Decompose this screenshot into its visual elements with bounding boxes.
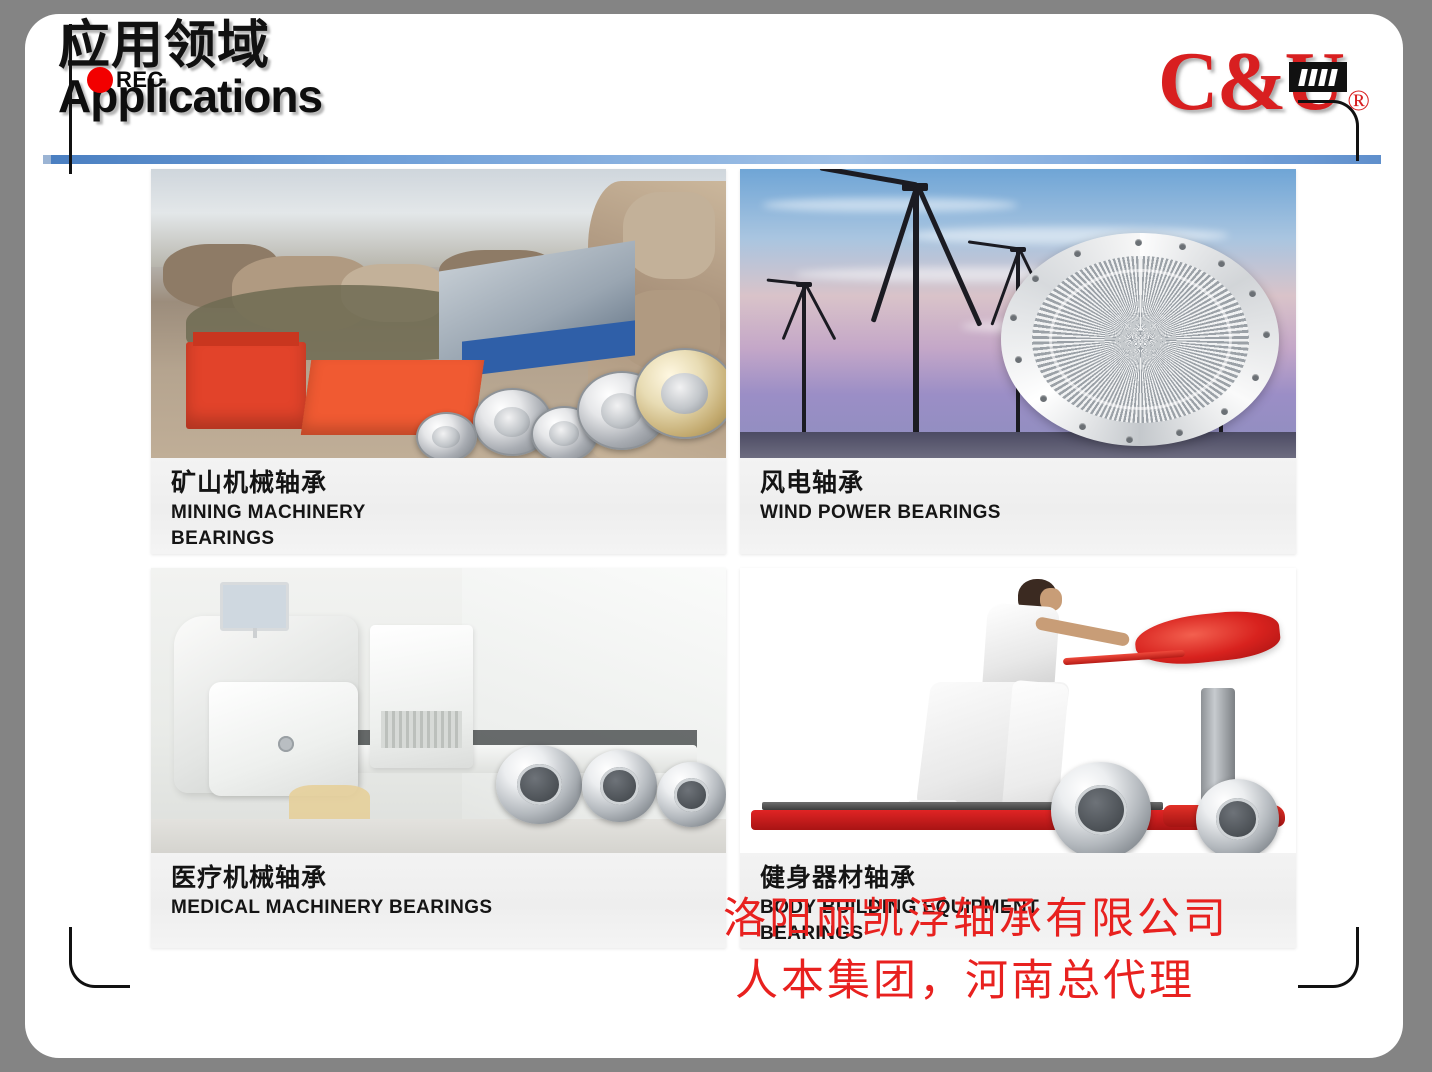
- wind-card-caption: 风电轴承 WIND POWER BEARINGS: [740, 458, 1296, 554]
- rec-indicator: REC: [87, 67, 164, 93]
- treadmill-fitness-photo: [740, 568, 1296, 853]
- cu-logo-bars-icon: [1289, 62, 1347, 92]
- bracket-bottom-right: [1298, 927, 1359, 988]
- page-title-chinese: 应用领域: [58, 18, 322, 74]
- fitness-title-en-1: BODY BUILDING EQUIPMENT: [760, 896, 1296, 919]
- rec-label: REC: [116, 67, 164, 93]
- watermark-line-2: 人本集团，河南总代理: [723, 950, 1229, 1012]
- application-card-mining[interactable]: 矿山机械轴承 MINING MACHINERY BEARINGS: [151, 169, 726, 554]
- medical-card-caption: 医疗机械轴承 MEDICAL MACHINERY BEARINGS: [151, 853, 726, 948]
- bracket-top-left-line: [69, 24, 72, 174]
- application-card-wind[interactable]: 风电轴承 WIND POWER BEARINGS: [740, 169, 1296, 554]
- medical-title-en-1: MEDICAL MACHINERY BEARINGS: [171, 896, 726, 919]
- rec-dot-icon: [87, 67, 113, 93]
- medical-title-cn: 医疗机械轴承: [171, 863, 726, 893]
- application-card-fitness[interactable]: 健身器材轴承 BODY BUILDING EQUIPMENT BEARINGS: [740, 568, 1296, 948]
- slide-header: 应用领域 Applications REC C&U ®: [25, 14, 1403, 164]
- bracket-top-right: [1298, 100, 1359, 161]
- slide-panel: 应用领域 Applications REC C&U ®: [25, 14, 1403, 1058]
- mining-title-en-1: MINING MACHINERY: [171, 501, 726, 524]
- wind-title-en-1: WIND POWER BEARINGS: [760, 501, 1296, 524]
- fitness-card-caption: 健身器材轴承 BODY BUILDING EQUIPMENT BEARINGS: [740, 853, 1296, 948]
- wind-title-cn: 风电轴承: [760, 468, 1296, 498]
- wind-turbines-photo: [740, 169, 1296, 458]
- applications-grid: 矿山机械轴承 MINING MACHINERY BEARINGS: [151, 169, 1296, 959]
- medical-ct-scanner-photo: [151, 568, 726, 853]
- mining-title-en-2: BEARINGS: [171, 527, 726, 550]
- mining-machinery-photo: [151, 169, 726, 458]
- mining-card-caption: 矿山机械轴承 MINING MACHINERY BEARINGS: [151, 458, 726, 554]
- application-card-medical[interactable]: 医疗机械轴承 MEDICAL MACHINERY BEARINGS: [151, 568, 726, 948]
- bracket-bottom-left: [69, 927, 130, 988]
- fitness-title-cn: 健身器材轴承: [760, 863, 1296, 893]
- fitness-title-en-2: BEARINGS: [760, 922, 1296, 945]
- header-divider: [51, 155, 1381, 164]
- mining-title-cn: 矿山机械轴承: [171, 468, 726, 498]
